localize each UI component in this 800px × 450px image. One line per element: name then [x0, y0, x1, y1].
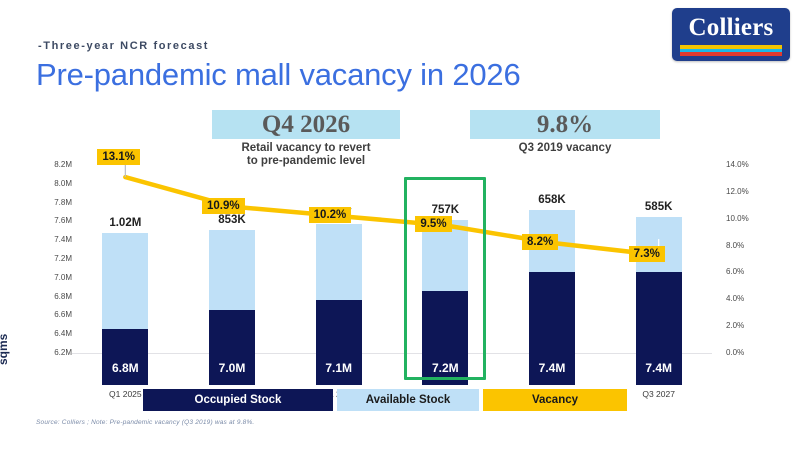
vacancy-line-layer [72, 165, 712, 385]
logo-stripe-red [680, 52, 782, 56]
y-axis-tick: 7.8M [28, 198, 72, 207]
y-axis-tick: 7.2M [28, 254, 72, 263]
vacancy-value-label: 10.9% [202, 198, 245, 214]
legend-item-vacancy[interactable]: Vacancy [483, 389, 627, 411]
y2-axis-tick: 0.0% [726, 348, 776, 357]
callout-caption-line1: Retail vacancy to revert [212, 142, 400, 155]
y-axis-tick: 7.4M [28, 235, 72, 244]
callout-q3-2019-vacancy: 9.8% Q3 2019 vacancy [470, 110, 660, 155]
legend-item-available-stock[interactable]: Available Stock [337, 389, 479, 411]
colliers-logo: Colliers [672, 8, 790, 61]
vacancy-value-label: 7.3% [629, 246, 665, 262]
y2-axis-tick: 14.0% [726, 160, 776, 169]
vacancy-chart: sqms 6.2M6.4M6.6M6.8M7.0M7.2M7.4M7.6M7.8… [0, 165, 800, 385]
callout-caption-line1: Q3 2019 vacancy [470, 142, 660, 155]
callout-caption: Q3 2019 vacancy [470, 142, 660, 155]
y-axis-tick: 6.2M [28, 348, 72, 357]
vacancy-value-label: 10.2% [309, 207, 352, 223]
legend-label: Occupied Stock [195, 394, 282, 406]
eyebrow-text: -Three-year NCR forecast [38, 40, 209, 52]
y2-axis-tick: 12.0% [726, 187, 776, 196]
logo-wordmark: Colliers [672, 14, 790, 42]
callout-value: 9.8% [470, 110, 660, 139]
vacancy-value-label: 8.2% [522, 234, 558, 250]
y2-axis-tick: 4.0% [726, 294, 776, 303]
y2-axis-tick: 8.0% [726, 241, 776, 250]
y2-axis-tick: 10.0% [726, 214, 776, 223]
y-axis-tick: 8.2M [28, 160, 72, 169]
y-axis-tick: 8.0M [28, 179, 72, 188]
highlight-q3-2026 [404, 177, 486, 380]
plot-area: 6.8M1.02MQ1 20257.0M853KQ3 20257.1M811KQ… [72, 165, 712, 385]
legend-label: Available Stock [366, 394, 451, 406]
x-axis-label: Q3 2027 [619, 389, 699, 399]
source-note: Source: Colliers ; Note: Pre-pandemic va… [36, 419, 254, 426]
y-axis-tick: 6.6M [28, 310, 72, 319]
logo-stripes [680, 45, 782, 56]
y2-axis-tick: 6.0% [726, 267, 776, 276]
slide: Colliers -Three-year NCR forecast Pre-pa… [0, 0, 800, 450]
y-axis-tick: 6.8M [28, 292, 72, 301]
legend-item-occupied-stock[interactable]: Occupied Stock [143, 389, 333, 411]
callout-q4-2026: Q4 2026 Retail vacancy to revert to pre-… [212, 110, 400, 168]
vacancy-line [125, 177, 658, 255]
chart-legend: Occupied Stock Available Stock Vacancy [143, 389, 627, 411]
legend-label: Vacancy [532, 394, 578, 406]
y-axis-tick: 7.0M [28, 273, 72, 282]
y2-axis-tick: 2.0% [726, 321, 776, 330]
vacancy-value-label: 13.1% [97, 149, 140, 165]
callout-value: Q4 2026 [212, 110, 400, 139]
page-title: Pre-pandemic mall vacancy in 2026 [36, 57, 520, 93]
y-axis-title: sqms [0, 334, 10, 365]
y-axis-tick: 6.4M [28, 329, 72, 338]
y-axis-tick: 7.6M [28, 216, 72, 225]
